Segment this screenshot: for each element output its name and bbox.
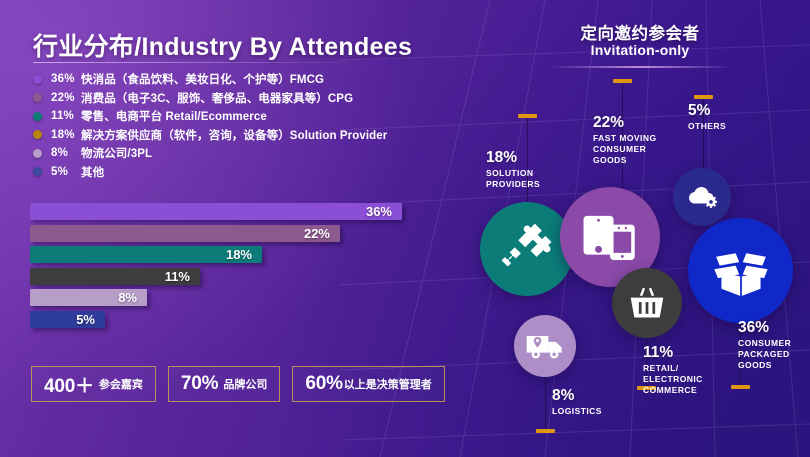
callout-cpg: 36% CONSUMERPACKAGEDGOODS [738, 320, 791, 371]
legend-label: 其他 [81, 164, 104, 180]
legend-percent: 36% [51, 73, 81, 85]
callout-percent: 18% [486, 150, 540, 166]
bar-row: 18% [30, 246, 430, 268]
node-circle-logistics[interactable] [514, 315, 576, 377]
legend-percent: 5% [51, 166, 81, 178]
legend-percent: 11% [51, 110, 81, 122]
invitation-title-cn: 定向邀约参会者 [470, 20, 810, 44]
callout-name: OTHERS [688, 121, 726, 132]
stat-number: 60% [305, 373, 342, 395]
bar-value-label: 11% [165, 269, 200, 284]
connector-tick-fmcg [613, 79, 632, 83]
bar-row: 11% [30, 268, 430, 290]
cloud-gear-icon [684, 182, 720, 212]
callout-retail: 11% RETAIL/ELECTRONICCOMMERCE [643, 345, 703, 396]
legend-percent: 18% [51, 129, 81, 141]
stat-box-decision-makers: 60% 以上是决策管理者 [292, 366, 444, 402]
callout-percent: 5% [688, 103, 726, 119]
tablet-phone-icon [580, 209, 640, 265]
legend-percent: 22% [51, 92, 81, 104]
open-box-icon [709, 242, 773, 300]
legend-item: 36% 快消品（食品饮料、美妆日化、个护等）FMCG [33, 70, 453, 89]
legend-percent: 8% [51, 147, 81, 159]
legend-label: 快消品（食品饮料、美妆日化、个护等）FMCG [81, 71, 324, 87]
legend-dot-logistics [33, 149, 42, 158]
slide-canvas: 行业分布/Industry By Attendees 36% 快消品（食品饮料、… [0, 0, 810, 457]
bar-value-label: 22% [304, 226, 340, 241]
legend-dot-fmcg [33, 75, 42, 84]
stat-label: 参会嘉宾 [99, 376, 143, 392]
callout-name: RETAIL/ELECTRONICCOMMERCE [643, 363, 703, 396]
connector-tick-others [694, 95, 713, 99]
bar-row: 8% [30, 289, 430, 311]
node-circle-retail[interactable] [612, 268, 682, 338]
stat-box-group: 400＋ 参会嘉宾 70% 品牌公司 60% 以上是决策管理者 [31, 366, 445, 402]
legend-label: 消费品（电子3C、服饰、奢侈品、电器家具等）CPG [81, 90, 353, 106]
legend-dot-others [33, 167, 42, 176]
legend-item: 18% 解决方案供应商（软件，咨询，设备等）Solution Provider [33, 126, 453, 145]
right-panel: 定向邀约参会者 Invitation-only [470, 0, 810, 457]
callout-logistics: 8% LOGISTICS [552, 388, 602, 417]
puzzle-icon [499, 221, 555, 277]
node-circle-others[interactable] [673, 168, 731, 226]
legend-dot-solution [33, 130, 42, 139]
title-divider [33, 62, 363, 63]
bar-row: 22% [30, 225, 430, 247]
bar-value-label: 36% [366, 204, 402, 219]
connector-tick-logistics [536, 429, 555, 433]
callout-name: LOGISTICS [552, 406, 602, 417]
callout-percent: 36% [738, 320, 791, 336]
legend-item: 11% 零售、电商平台 Retail/Ecommerce [33, 107, 453, 126]
left-panel: 行业分布/Industry By Attendees 36% 快消品（食品饮料、… [0, 0, 470, 457]
stat-number: 70% [181, 373, 218, 395]
legend-dot-retail [33, 112, 42, 121]
callout-percent: 8% [552, 388, 602, 404]
legend-dot-cpg [33, 93, 42, 102]
basket-icon [627, 284, 667, 322]
bar-row: 36% [30, 203, 430, 225]
callout-percent: 11% [643, 345, 703, 361]
legend-list: 36% 快消品（食品饮料、美妆日化、个护等）FMCG 22% 消费品（电子3C、… [33, 70, 453, 181]
callout-others: 5% OTHERS [688, 103, 726, 132]
bar-value-label: 5% [76, 312, 105, 327]
delivery-truck-icon [525, 330, 565, 362]
invitation-title-en: Invitation-only [470, 42, 810, 58]
legend-label: 零售、电商平台 Retail/Ecommerce [81, 108, 267, 124]
invitation-title-divider [548, 66, 732, 68]
bar-row: 5% [30, 311, 430, 333]
bar-others: 5% [30, 311, 105, 328]
node-circle-solution-providers[interactable] [480, 202, 574, 296]
connector-tick-cpg [731, 385, 750, 389]
callout-percent: 22% [593, 115, 657, 131]
callout-name: CONSUMERPACKAGEDGOODS [738, 338, 791, 371]
callout-fmcg: 22% FAST MOVINGCONSUMERGOODS [593, 115, 657, 166]
page-title: 行业分布/Industry By Attendees [33, 27, 412, 63]
stat-label: 以上是决策管理者 [344, 376, 432, 392]
node-circle-cpg[interactable] [688, 218, 793, 323]
legend-label: 物流公司/3PL [81, 145, 152, 161]
bar-chart: 36% 22% 18% 11% 8% [30, 203, 430, 332]
legend-item: 8% 物流公司/3PL [33, 144, 453, 163]
bar-retail: 11% [30, 268, 200, 285]
bar-value-label: 18% [226, 247, 262, 262]
stat-box-brands: 70% 品牌公司 [168, 366, 280, 402]
stat-box-attendees: 400＋ 参会嘉宾 [31, 366, 156, 402]
callout-solution-providers: 18% SOLUTIONPROVIDERS [486, 150, 540, 190]
bar-logistics: 8% [30, 289, 147, 306]
callout-name: FAST MOVINGCONSUMERGOODS [593, 133, 657, 166]
connector-tick-solution [518, 114, 537, 118]
stat-number: 400＋ [44, 371, 94, 398]
bar-value-label: 8% [118, 290, 147, 305]
legend-label: 解决方案供应商（软件，咨询，设备等）Solution Provider [81, 127, 387, 143]
bar-cpg: 22% [30, 225, 340, 242]
stat-label: 品牌公司 [223, 376, 267, 392]
bar-fmcg: 36% [30, 203, 402, 220]
legend-item: 22% 消费品（电子3C、服饰、奢侈品、电器家具等）CPG [33, 89, 453, 108]
legend-item: 5% 其他 [33, 163, 453, 182]
bar-solution: 18% [30, 246, 262, 263]
callout-name: SOLUTIONPROVIDERS [486, 168, 540, 190]
